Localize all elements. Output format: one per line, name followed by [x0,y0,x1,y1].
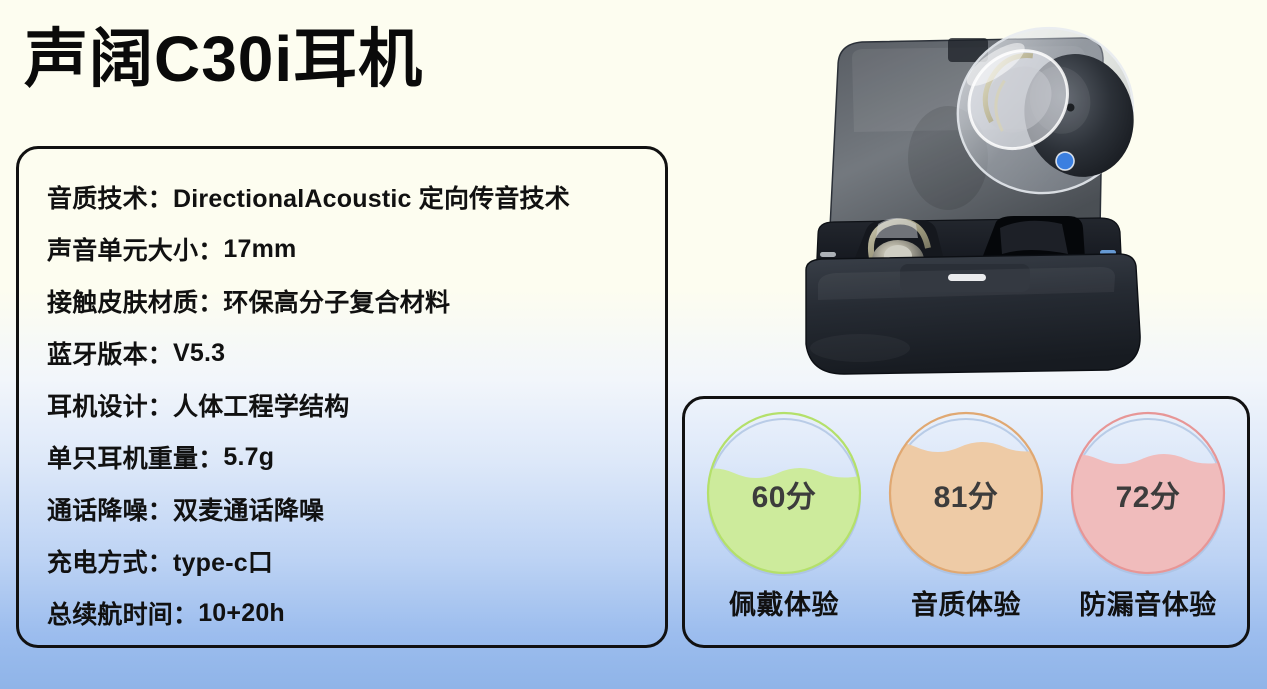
spec-row: 音质技术： DirectionalAcoustic 定向传音技术 [47,171,665,223]
spec-row: 声音单元大小： 17mm [47,223,665,275]
score-label: 防漏音体验 [1079,583,1217,622]
score-label: 佩戴体验 [729,583,839,622]
spec-label: 接触皮肤材质： [47,283,223,319]
spec-row: 耳机设计： 人体工程学结构 [47,379,665,431]
spec-value: 环保高分子复合材料 [223,283,450,319]
spec-row: 通话降噪： 双麦通话降噪 [47,483,665,535]
earbuds-charging-case-photo [800,8,1260,388]
score-item: 81分 音质体验 [880,409,1052,622]
score-gauge: 81分 [882,409,1050,581]
spec-value: 双麦通话降噪 [173,491,324,527]
spec-label: 声音单元大小： [47,231,223,267]
spec-row: 单只耳机重量： 5.7g [47,431,665,483]
spec-label: 单只耳机重量： [47,439,223,475]
spec-row: 蓝牙版本： V5.3 [47,327,665,379]
score-value: 72分 [1064,472,1232,516]
spec-label: 通话降噪： [47,491,173,527]
page-title: 声阔C30i耳机 [24,24,423,94]
score-value: 81分 [882,472,1050,516]
spec-value: 17mm [223,235,296,264]
spec-label: 蓝牙版本： [47,335,173,371]
score-gauge: 60分 [700,409,868,581]
score-gauge: 72分 [1064,409,1232,581]
spec-value: 5.7g [223,443,274,472]
spec-value: 人体工程学结构 [173,387,349,423]
spec-row: 接触皮肤材质： 环保高分子复合材料 [47,275,665,327]
spec-value: type-c口 [173,543,273,579]
spec-label: 充电方式： [47,543,173,579]
score-value: 60分 [700,472,868,516]
spec-row: 充电方式： type-c口 [47,535,665,587]
spec-value: DirectionalAcoustic 定向传音技术 [173,179,570,215]
spec-row: 总续航时间： 10+20h [47,587,665,639]
charging-case-base [806,216,1140,374]
score-item: 72分 防漏音体验 [1062,409,1234,622]
experience-scores-panel: 60分 佩戴体验 81分 音质体验 [682,396,1250,648]
spec-value: 10+20h [198,599,285,628]
spec-label: 总续航时间： [47,595,198,631]
spec-label: 音质技术： [47,179,173,215]
score-item: 60分 佩戴体验 [698,409,870,622]
spec-label: 耳机设计： [47,387,173,423]
score-label: 音质体验 [911,583,1021,622]
specifications-panel: 音质技术： DirectionalAcoustic 定向传音技术 声音单元大小：… [16,146,668,648]
spec-value: V5.3 [173,339,225,368]
product-photo [800,8,1260,388]
